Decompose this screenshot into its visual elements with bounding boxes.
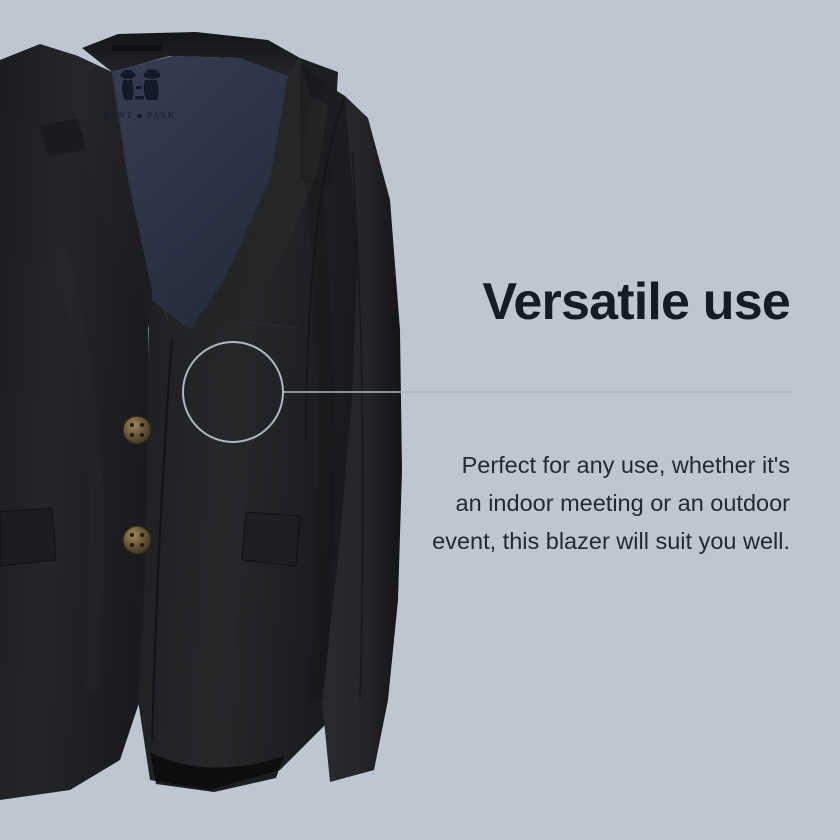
page-title: Versatile use: [482, 275, 790, 330]
blazer-product-image: [0, 0, 840, 840]
pocket-flap-left: [0, 508, 56, 566]
hanger-loop: [112, 45, 162, 51]
pocket-flap-right: [242, 512, 300, 566]
jacket-button-lower: [123, 526, 151, 554]
product-feature-card: KENT ◆ PARK Versatile use Perfect for an…: [0, 0, 840, 840]
jacket-button-upper: [123, 416, 151, 444]
feature-description: Perfect for any use, whether it's an ind…: [430, 446, 790, 560]
